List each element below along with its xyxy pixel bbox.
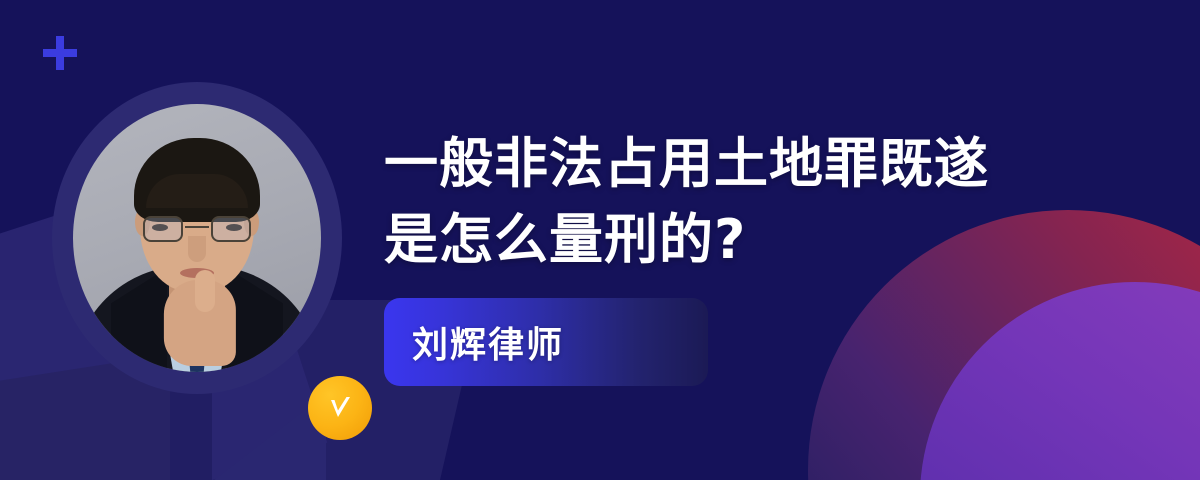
portrait-hair <box>134 138 260 222</box>
avatar[interactable] <box>52 82 342 394</box>
glasses-lens-left <box>143 216 183 242</box>
background-arc-purple <box>920 282 1200 480</box>
portrait-finger <box>195 270 215 312</box>
page-title: 一般非法占用土地罪既遂 是怎么量刑的? <box>384 126 1124 278</box>
legal-qa-banner: 一般非法占用土地罪既遂 是怎么量刑的? 刘辉律师 <box>0 0 1200 480</box>
avatar-photo <box>73 104 321 372</box>
plus-icon-bar-vertical <box>56 36 64 70</box>
lawyer-name-badge[interactable]: 刘辉律师 <box>384 298 708 386</box>
portrait-glasses <box>143 216 251 242</box>
glasses-lens-right <box>211 216 251 242</box>
background-wedge-triangle <box>196 394 326 480</box>
lawyer-name-label: 刘辉律师 <box>384 316 564 368</box>
content-column: 一般非法占用土地罪既遂 是怎么量刑的? 刘辉律师 <box>384 126 1124 278</box>
plus-icon <box>43 36 77 70</box>
glasses-bridge <box>185 226 209 228</box>
verified-check-icon <box>308 376 372 440</box>
